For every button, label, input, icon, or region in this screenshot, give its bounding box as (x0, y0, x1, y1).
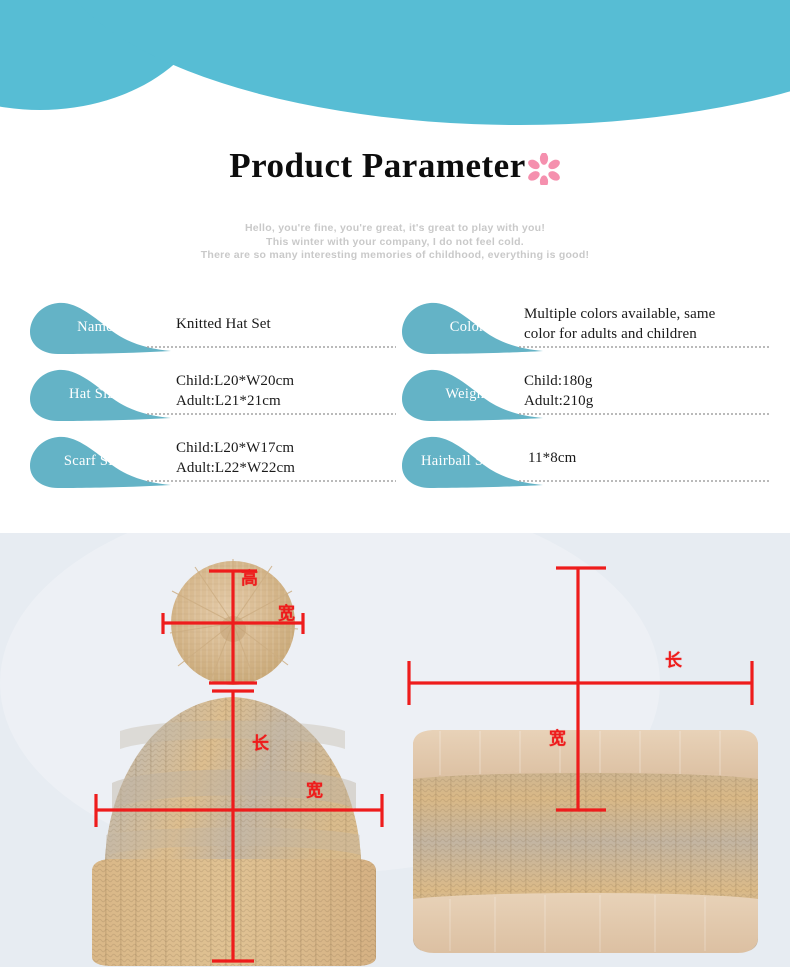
scarf-photo (413, 730, 758, 953)
product-parameter-page: Product Parameter Hello, you're fine, yo… (0, 0, 790, 967)
parameter-value-hat-size: Child:L20*W20cm Adult:L21*21cm (176, 363, 408, 419)
parameter-value-color: Multiple colors available, same color fo… (524, 296, 776, 352)
parameter-row-name: Name Knitted Hat Set (28, 296, 403, 364)
parameter-table: Name Knitted Hat Set Hat Size Child:L20*… (0, 296, 790, 531)
annotation-label-pompom-width: 宽 (278, 606, 295, 623)
parameter-row-scarf-size: Scarf Size Child:L20*W17cm Adult:L22*W22… (28, 430, 403, 498)
parameter-value-scarf-size: Child:L20*W17cm Adult:L22*W22cm (176, 430, 408, 486)
parameter-value-hairball-size: 11*8cm (528, 430, 780, 486)
subtitle-line-3: There are so many interesting memories o… (0, 249, 790, 263)
parameter-column-left: Name Knitted Hat Set Hat Size Child:L20*… (28, 296, 403, 531)
parameter-row-color: Color Multiple colors available, same co… (400, 296, 775, 364)
parameter-row-hat-size: Hat Size Child:L20*W20cm Adult:L21*21cm (28, 363, 403, 431)
parameter-value-name: Knitted Hat Set (176, 296, 408, 352)
subtitle-line-2: This winter with your company, I do not … (0, 236, 790, 250)
parameter-row-hairball-size: Hairball Size 11*8cm (400, 430, 775, 498)
annotation-label-pompom-height: 高 (241, 571, 258, 588)
subtitle-line-1: Hello, you're fine, you're great, it's g… (0, 222, 790, 236)
top-banner (0, 0, 790, 130)
sakura-flower-icon (527, 153, 561, 190)
page-title-text: Product Parameter (229, 146, 525, 185)
page-title: Product Parameter (0, 146, 790, 186)
annotation-label-scarf-length: 长 (665, 653, 682, 670)
annotation-label-hat-width: 宽 (306, 783, 323, 800)
annotation-label-scarf-width: 宽 (549, 731, 566, 748)
subtitle-block: Hello, you're fine, you're great, it's g… (0, 222, 790, 263)
scarf-fleece-bottom (413, 893, 758, 953)
product-photo-section: 高 宽 长 宽 长 宽 (0, 533, 790, 967)
parameter-value-weight: Child:180g Adult:210g (524, 363, 776, 419)
scarf-fleece-top (413, 730, 758, 779)
parameter-column-right: Color Multiple colors available, same co… (400, 296, 775, 531)
annotation-label-hat-length: 长 (252, 736, 269, 753)
parameter-row-weight: Weight Child:180g Adult:210g (400, 363, 775, 431)
